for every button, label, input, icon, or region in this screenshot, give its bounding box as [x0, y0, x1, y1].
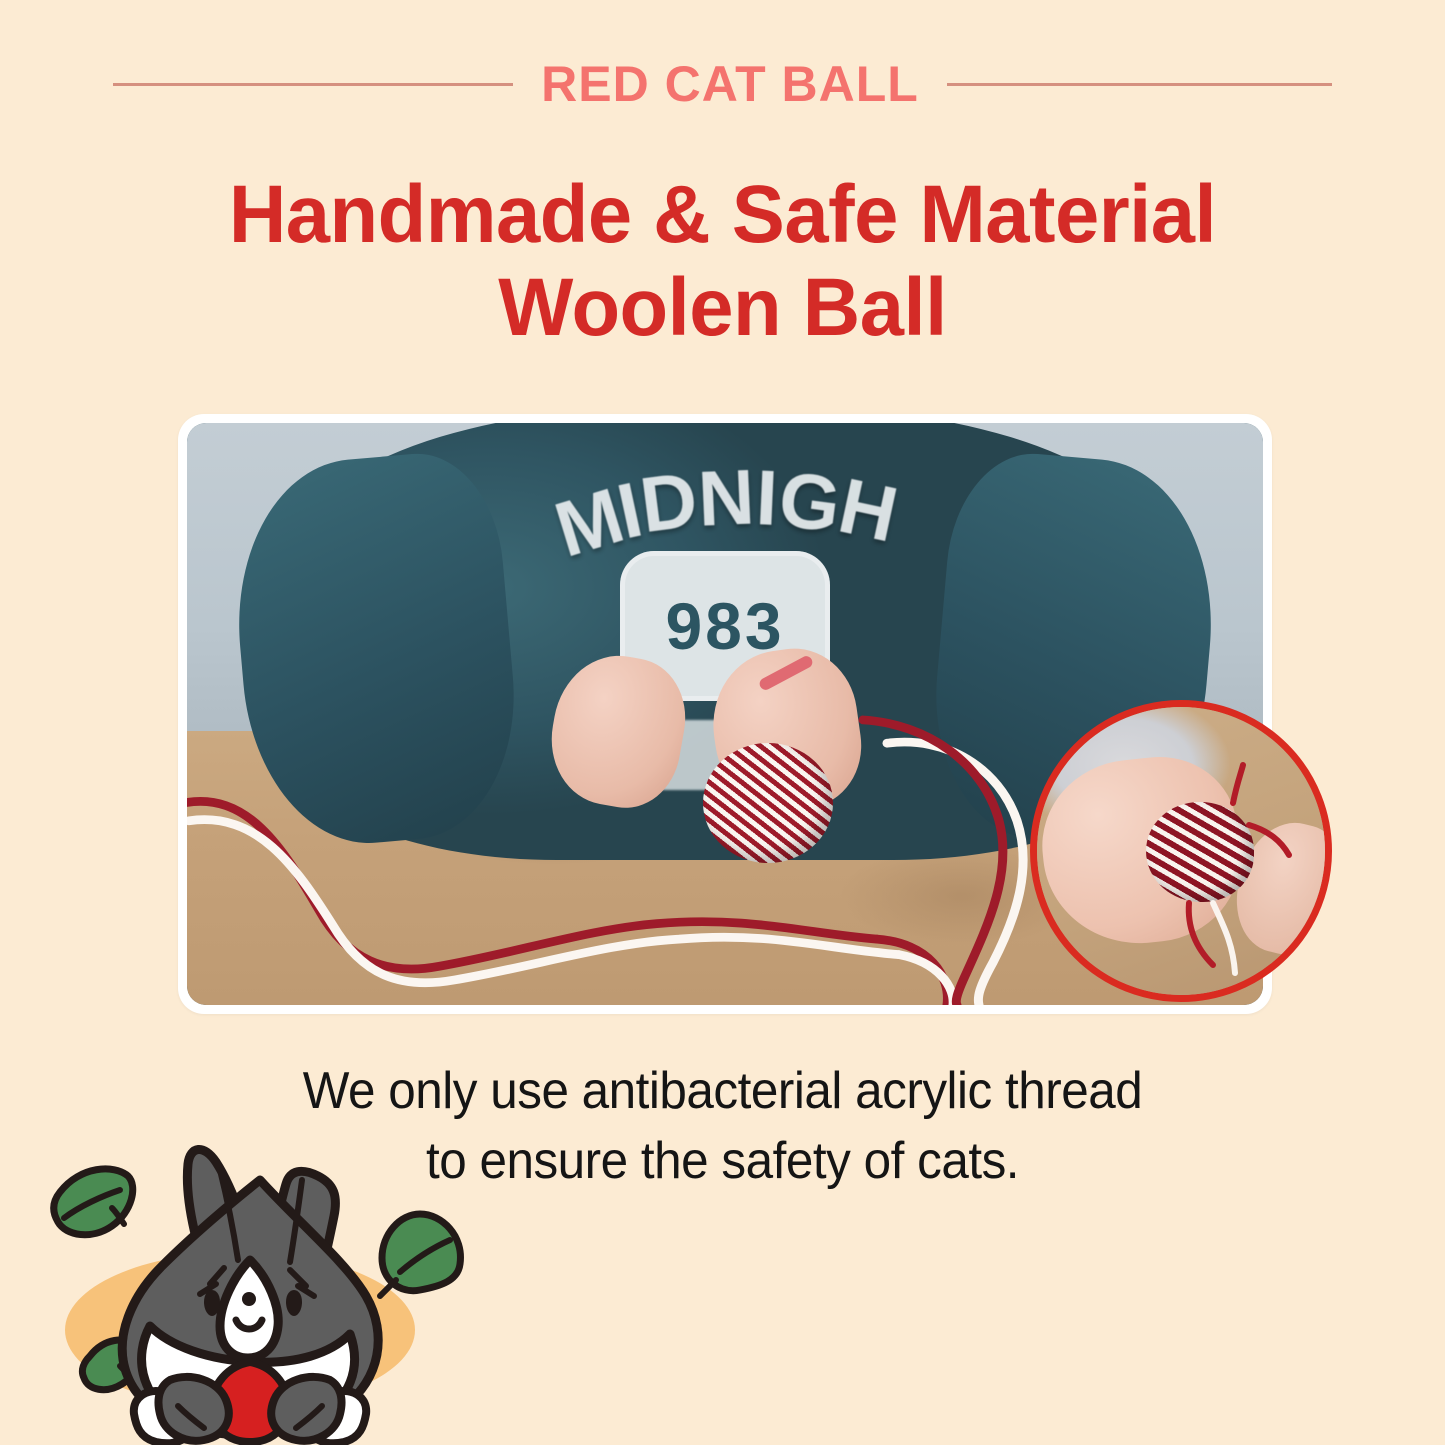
closeup-inset-photo — [1030, 700, 1332, 1002]
headline-line-2: Woolen Ball — [22, 261, 1424, 354]
kicker-rule-left — [113, 83, 513, 86]
leaf-icon-upper-left — [54, 1169, 133, 1235]
cat-nose — [242, 1292, 256, 1306]
kicker-row: RED CAT BALL — [0, 48, 1445, 120]
inset-thread-tails — [1037, 707, 1325, 995]
cat-mascot-illustration — [28, 1118, 488, 1445]
kicker-title: RED CAT BALL — [541, 59, 919, 109]
kicker-rule-right — [947, 83, 1332, 86]
caption-line-1: We only use antibacterial acrylic thread — [36, 1056, 1409, 1126]
headline-line-1: Handmade & Safe Material — [22, 168, 1424, 261]
leaf-icon-right — [380, 1214, 460, 1296]
page-title: Handmade & Safe Material Woolen Ball — [22, 168, 1424, 355]
